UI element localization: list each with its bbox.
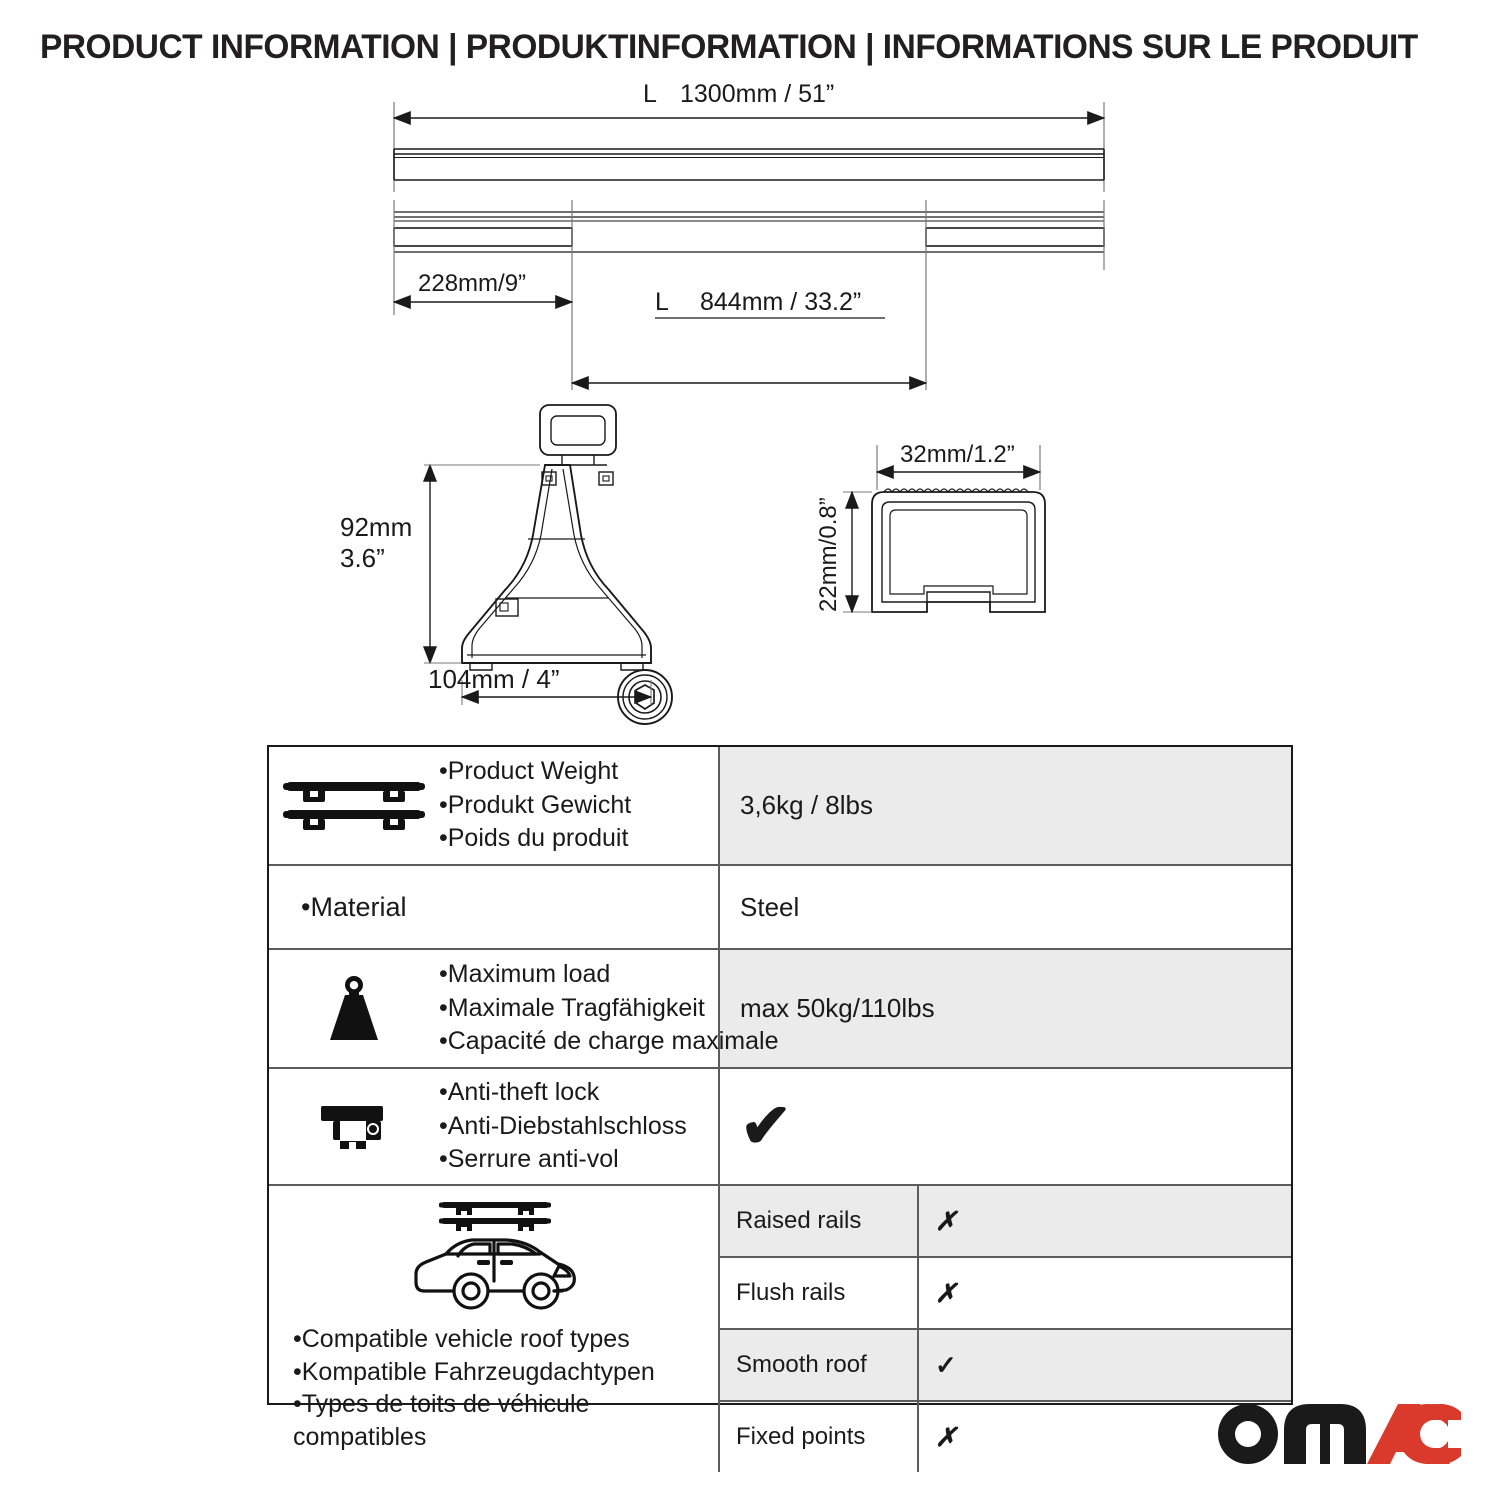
material-value: Steel (720, 866, 1291, 948)
table-row: •Anti-theft lock •Anti-Diebstahlschloss … (269, 1067, 1291, 1184)
label-line: •Anti-theft lock (439, 1076, 687, 1110)
dim-label-span-symbol: L (655, 288, 669, 316)
roof-type-row: Fixed points ✗ (720, 1400, 1291, 1472)
specification-table: •Product Weight •Produkt Gewicht •Poids … (267, 745, 1293, 1405)
table-row: •Maximum load •Maximale Tragfähigkeit •C… (269, 948, 1291, 1067)
anti-theft-labels: •Anti-theft lock •Anti-Diebstahlschloss … (439, 1076, 687, 1177)
crossbars-icon (269, 776, 439, 836)
anti-theft-label-cell: •Anti-theft lock •Anti-Diebstahlschloss … (269, 1069, 720, 1184)
dim-label-bar-length-symbol: L (643, 80, 657, 108)
max-load-label-cell: •Maximum load •Maximale Tragfähigkeit •C… (269, 950, 720, 1067)
label-line: •Compatible vehicle roof types (293, 1323, 718, 1356)
dim-label-profile-height: 22mm/0.8” (815, 497, 842, 612)
label-line: •Types de toits de véhicule compatibles (293, 1388, 718, 1453)
label-line: •Maximum load (439, 958, 778, 992)
product-information-page: PRODUCT INFORMATION | PRODUKTINFORMATION… (0, 0, 1500, 1500)
table-row: •Product Weight •Produkt Gewicht •Poids … (269, 747, 1291, 864)
label-line: •Poids du produit (439, 822, 631, 856)
label-line: •Maximale Tragfähigkeit (439, 992, 778, 1026)
roof-type-row: Flush rails ✗ (720, 1256, 1291, 1328)
car-with-rack-icon (394, 1196, 594, 1319)
page-title: PRODUCT INFORMATION | PRODUKTINFORMATION… (40, 28, 1449, 67)
roof-type-row: Smooth roof ✓ (720, 1328, 1291, 1400)
roof-types-list: Raised rails ✗ Flush rails ✗ Smooth roof… (720, 1186, 1291, 1472)
check-icon: ✔ (740, 1096, 792, 1158)
label-line: •Kompatible Fahrzeugdachtypen (293, 1356, 718, 1389)
roof-type-support-mark: ✗ (919, 1258, 1291, 1328)
technical-drawing: L 1300mm / 51” 228mm/9” L 844mm / 33.2” … (0, 80, 1500, 730)
roof-type-support-mark: ✓ (919, 1330, 1291, 1400)
anti-theft-value: ✔ (720, 1069, 1291, 1184)
label-line: •Serrure anti-vol (439, 1143, 687, 1177)
label-line: •Anti-Diebstahlschloss (439, 1110, 687, 1144)
dim-label-foot-height-line2: 3.6” (340, 543, 385, 573)
roof-type-row: Raised rails ✗ (720, 1186, 1291, 1256)
dim-label-foot-offset: 228mm/9” (418, 270, 526, 297)
weight-labels: •Product Weight •Produkt Gewicht •Poids … (439, 755, 631, 856)
weight-label-cell: •Product Weight •Produkt Gewicht •Poids … (269, 747, 720, 864)
omac-logo (1212, 1394, 1462, 1470)
weight-value: 3,6kg / 8lbs (720, 747, 1291, 864)
weight-icon (269, 972, 439, 1046)
label-line: •Capacité de charge maximale (439, 1025, 778, 1059)
dim-label-foot-height-line1: 92mm (340, 512, 412, 542)
label-line: •Produkt Gewicht (439, 789, 631, 823)
max-load-value: max 50kg/110lbs (720, 950, 1291, 1067)
dim-label-bar-length: 1300mm / 51” (680, 80, 834, 108)
dim-label-profile-width: 32mm/1.2” (900, 441, 1015, 468)
table-row-compatibility: •Compatible vehicle roof types •Kompatib… (269, 1184, 1291, 1472)
compatibility-labels: •Compatible vehicle roof types •Kompatib… (269, 1323, 718, 1453)
roof-type-name: Fixed points (720, 1402, 919, 1472)
roof-type-name: Raised rails (720, 1186, 919, 1256)
roof-type-support-mark: ✗ (919, 1186, 1291, 1256)
label-line: •Product Weight (439, 755, 631, 789)
roof-type-name: Smooth roof (720, 1330, 919, 1400)
max-load-labels: •Maximum load •Maximale Tragfähigkeit •C… (439, 958, 778, 1059)
roof-type-name: Flush rails (720, 1258, 919, 1328)
table-row: •Material Steel (269, 864, 1291, 948)
lock-icon (269, 1098, 439, 1156)
label-line: •Material (301, 892, 406, 923)
compatibility-label-cell: •Compatible vehicle roof types •Kompatib… (269, 1186, 720, 1472)
dim-label-foot-width: 104mm / 4” (428, 664, 560, 694)
material-label-cell: •Material (269, 866, 720, 948)
dim-label-span: 844mm / 33.2” (700, 288, 861, 316)
